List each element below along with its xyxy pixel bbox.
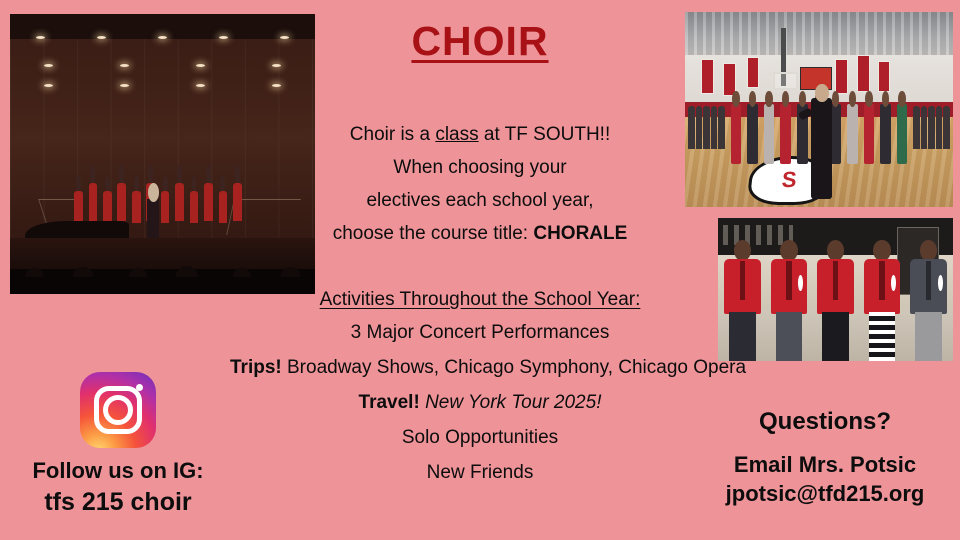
choir-singer [161,176,170,238]
contact-name: Email Mrs. Potsic [700,452,950,478]
course-title-chorale: CHORALE [533,223,627,244]
activities-block: Activities Throughout the School Year: 3… [230,284,730,490]
student-figure [816,238,855,361]
gym-singer [764,104,775,164]
instagram-icon[interactable] [80,372,156,448]
gym-singer [864,104,875,164]
intro-line-1-suffix: at TF SOUTH!! [479,124,611,145]
gym-singer [780,104,791,164]
crowd-person [936,106,943,149]
instagram-block: Follow us on IG: tfs 215 choir [8,372,228,517]
crowd-person [928,106,935,149]
choir-flyer: CHOIR Choir is a class at TF SOUTH!! Whe… [0,0,960,540]
activity-travel-label: Travel! [359,392,420,413]
activity-trips-label: Trips! [230,357,282,378]
intro-line-1: Choir is a class at TF SOUTH!! [230,118,730,151]
gym-conductor [811,98,832,199]
stage-light [196,84,205,87]
intro-line-4: choose the course title: CHORALE [230,217,730,250]
page-title: CHOIR [0,18,960,65]
activity-item-solo: Solo Opportunities [230,420,730,455]
gym-singer [731,104,742,164]
intro-line-4-prefix: choose the course title: [333,223,534,244]
instagram-lens-shape [103,395,133,425]
students-red-blazers-photo [718,218,953,361]
student-lanyard-badge [938,275,943,291]
activities-heading: Activities Throughout the School Year: [230,284,730,315]
activity-travel-detail: New York Tour 2025! [425,392,601,413]
contact-email-address[interactable]: jpotsic@tfd215.org [700,481,950,507]
activity-item-concerts: 3 Major Concert Performances [230,315,730,350]
student-legs [729,312,756,361]
stage-light-row-3 [10,84,315,87]
contact-heading: Questions? [700,408,950,436]
intro-line-1-prefix: Choir is a [350,124,436,145]
instagram-handle: tfs 215 choir [8,488,228,517]
basketball-backboard [773,72,797,90]
activity-item-trips: Trips! Broadway Shows, Chicago Symphony,… [230,350,730,385]
activity-item-friends: New Friends [230,455,730,490]
stage-light [272,84,281,87]
crowd-person [943,106,950,149]
student-figure [769,238,808,361]
student-legs [869,312,896,361]
gym-singer [880,104,891,164]
stage-light [44,84,53,87]
intro-line-2: When choosing your [230,151,730,184]
student-figure [909,238,948,361]
instagram-follow-label: Follow us on IG: [8,458,228,484]
gym-crowd-right [913,106,951,149]
choir-singer [175,165,184,238]
students-group [723,238,949,361]
student-red-blazer [817,259,853,314]
activity-trips-detail: Broadway Shows, Chicago Symphony, Chicag… [282,357,746,378]
gym-banner [878,61,890,92]
gym-singer [897,104,908,164]
student-legs [776,312,803,361]
crowd-person [921,106,928,149]
choir-singer [204,165,213,238]
student-legs [822,312,849,361]
gym-singer [747,104,758,164]
instagram-dot-shape [136,384,143,391]
intro-line-1-underlined-word: class [435,124,478,145]
stage-light [120,84,129,87]
student-figure [862,238,901,361]
center-text-column: Choir is a class at TF SOUTH!! When choo… [230,118,730,490]
choir-singer [132,176,141,238]
student-legs [915,312,942,361]
contact-block: Questions? Email Mrs. Potsic jpotsic@tfd… [700,408,950,507]
intro-line-3: electives each school year, [230,184,730,217]
crowd-person [913,106,920,149]
gym-singer [847,104,858,164]
choir-singer [190,176,199,238]
activity-item-travel: Travel! New York Tour 2025! [230,385,730,420]
choir-singer [219,176,228,238]
